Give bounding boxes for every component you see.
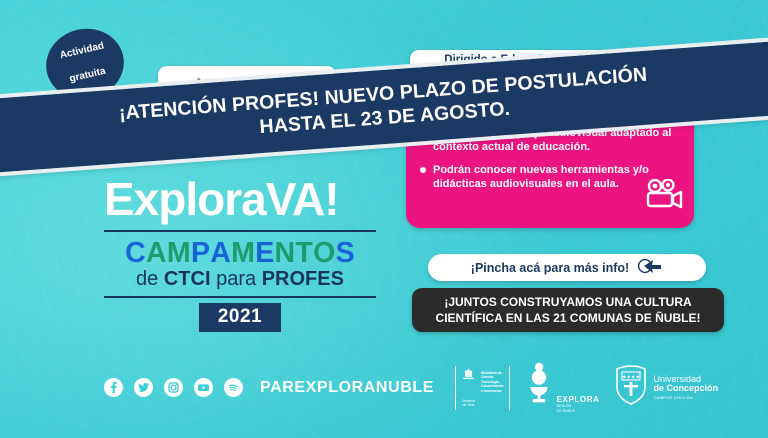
title-subline: de CTCI para PROFES (104, 269, 376, 289)
slogan-line1: ¡JUNTOS CONSTRUYAMOS UNA CULTURA (444, 294, 691, 310)
title-rule-top (104, 230, 376, 232)
campamentos-letter-6: E (255, 239, 274, 268)
movie-camera-icon (644, 179, 684, 214)
campamentos-letter-3: P (191, 239, 210, 268)
free-activity-line2: gratuita (64, 65, 111, 87)
campamentos-letter-0: C (125, 239, 146, 268)
ministry-logo: Gobierno de Chile Ministerio de Ciencia,… (455, 366, 510, 410)
subline-pre: de (136, 268, 164, 290)
free-activity-line1: Actividad (59, 41, 106, 63)
title-rule-bottom (104, 296, 376, 298)
year-badge: 2021 (199, 303, 281, 332)
campamentos-letter-2: M (167, 239, 191, 268)
explora-sub2: DE ÑUBLE (557, 410, 600, 413)
logo-strip: Gobierno de Chile Ministerio de Ciencia,… (455, 362, 718, 413)
subline-profes: PROFES (262, 268, 344, 290)
udec-line2: de Concepción (653, 384, 718, 394)
explora-name: EXPLORA (557, 396, 600, 404)
udec-logo: ★★★★ Universidad de Concepción CAMPUS CH… (613, 364, 718, 411)
campamentos-letter-1: A (146, 239, 167, 268)
campamentos-letter-7: N (275, 239, 296, 268)
udec-crest-icon: ★★★★ (613, 364, 649, 411)
hand-pointer-icon (637, 257, 663, 278)
gobierno-de-chile-label: Gobierno de Chile (461, 399, 476, 408)
list-item: Podrán conocer nuevas herramientas y/o d… (420, 163, 680, 191)
facebook-icon[interactable] (104, 378, 123, 397)
explora-figure-icon (524, 362, 554, 413)
title-block: ExploraVA! CAMPAMENTOS de CTCI para PROF… (104, 176, 376, 332)
instagram-icon[interactable] (164, 378, 183, 397)
ministry-line5: e Innovación (481, 389, 504, 394)
social-row: PAREXPLORANUBLE (104, 378, 434, 397)
more-info-button[interactable]: ¡Pincha acá para más info! (428, 254, 706, 281)
youtube-icon[interactable] (194, 378, 213, 397)
subline-ctci: CTCI (164, 268, 211, 290)
campamentos-letter-9: O (313, 239, 335, 268)
campamentos-letter-8: T (295, 239, 313, 268)
svg-text:★★★★: ★★★★ (623, 375, 641, 381)
ministry-name: Ministerio de Ciencia, Tecnología, Conoc… (481, 368, 504, 408)
udec-line3: CAMPUS CHILLÁN (653, 396, 718, 400)
more-info-label: ¡Pincha acá para más info! (471, 261, 629, 275)
spotify-icon[interactable] (224, 378, 243, 397)
slogan-line2: CIENTÍFICA EN LAS 21 COMUNAS DE ÑUBLE! (436, 310, 701, 326)
udec-wordmark: Universidad de Concepción CAMPUS CHILLÁN (653, 375, 718, 401)
campamentos-letter-5: M (231, 239, 255, 268)
subline-mid: para (211, 268, 262, 290)
slogan-banner: ¡JUNTOS CONSTRUYAMOS UNA CULTURA CIENTÍF… (412, 288, 724, 332)
chile-coat-of-arms-icon: Gobierno de Chile (461, 368, 476, 408)
year-wrap: 2021 (104, 303, 376, 332)
campamentos-wordmark: CAMPAMENTOS (104, 239, 376, 268)
poster-root: Actividad gratuita ¡Atención profes! Dir… (0, 0, 768, 438)
page-title: ExploraVA! (104, 176, 376, 222)
twitter-icon[interactable] (134, 378, 153, 397)
campamentos-letter-4: A (210, 239, 231, 268)
explora-wordmark: EXPLORA REGIÓN DE ÑUBLE (557, 396, 600, 413)
campamentos-letter-10: S (336, 239, 355, 268)
explora-logo: EXPLORA REGIÓN DE ÑUBLE (524, 362, 600, 413)
social-handle: PAREXPLORANUBLE (260, 379, 434, 397)
